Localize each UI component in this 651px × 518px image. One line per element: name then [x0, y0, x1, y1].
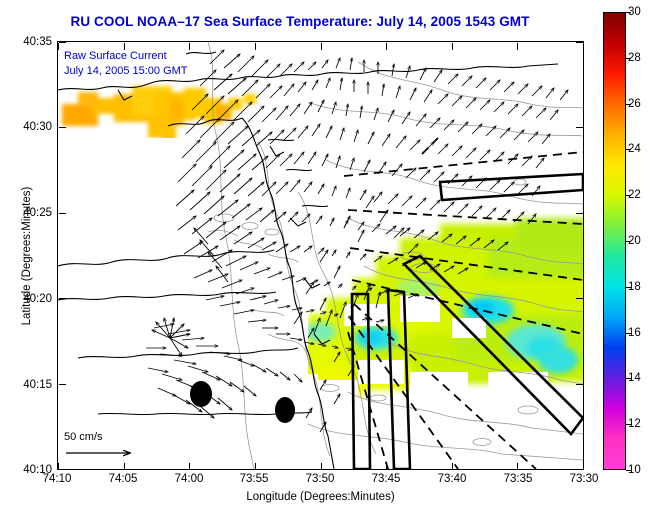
sst-map-plot[interactable]: Raw Surface Current July 14, 2005 15:00 …: [57, 41, 584, 470]
scale-bar-arrow-icon: [64, 443, 150, 463]
x-axis-label: Longitude (Degrees:Minutes): [57, 491, 584, 503]
colorbar-tickmark-4: [626, 195, 631, 196]
y-tickmark-left-1: [59, 127, 66, 128]
scale-bar-label: 50 cm/s: [64, 431, 150, 443]
station-marker-1: [190, 381, 212, 407]
annotation-line-2: July 14, 2005 15:00 GMT: [64, 64, 188, 79]
x-tickmark-top-7: [517, 43, 518, 50]
y-tickmark-right-4: [576, 384, 583, 385]
annotation-line-1: Raw Surface Current: [64, 49, 188, 64]
x-tickmark-bottom-3: [255, 463, 256, 470]
colorbar-tickmark-8: [626, 378, 631, 379]
y-tickmark-right-0: [576, 42, 583, 43]
colorbar-tickmark-9: [626, 424, 631, 425]
x-tickmark-top-3: [255, 43, 256, 50]
map-annotation: Raw Surface Current July 14, 2005 15:00 …: [64, 49, 188, 79]
xtick-5: 73:45: [372, 473, 401, 485]
y-tickmark-right-3: [576, 298, 583, 299]
x-tickmark-bottom-7: [517, 463, 518, 470]
x-tickmark-top-8: [583, 43, 584, 50]
x-tickmark-bottom-6: [452, 463, 453, 470]
colorbar-tickmark-1: [626, 58, 631, 59]
y-tickmark-left-2: [59, 213, 66, 214]
xtick-1: 74:05: [109, 473, 138, 485]
x-tickmark-top-4: [321, 43, 322, 50]
colorbar-tickmark-0: [626, 12, 631, 13]
x-tickmark-top-2: [189, 43, 190, 50]
colorbar-tickmark-5: [626, 241, 631, 242]
colorbar-tickmark-6: [626, 287, 631, 288]
x-tickmark-bottom-5: [386, 463, 387, 470]
colorbar-tickmark-10: [626, 470, 631, 471]
xtick-4: 73:50: [306, 473, 335, 485]
page-title: RU COOL NOAA–17 Sea Surface Temperature:…: [0, 14, 600, 29]
y-tickmark-right-5: [576, 469, 583, 470]
x-tickmark-top-1: [124, 43, 125, 50]
scale-bar: 50 cm/s: [64, 431, 150, 468]
x-tickmark-bottom-1: [124, 463, 125, 470]
ytick-4: 40:15: [8, 379, 52, 391]
y-tickmark-left-3: [59, 298, 66, 299]
x-tickmark-top-0: [58, 43, 59, 50]
map-canvas: [58, 42, 583, 469]
colorbar: [603, 12, 626, 470]
ytick-5: 40:10: [8, 464, 52, 476]
x-tickmark-top-5: [386, 43, 387, 50]
y-tickmark-right-2: [576, 213, 583, 214]
y-axis-label: Latitude (Degrees:Minutes): [21, 136, 33, 376]
x-tickmark-bottom-8: [583, 463, 584, 470]
xtick-7: 73:35: [504, 473, 533, 485]
x-tickmark-bottom-2: [189, 463, 190, 470]
xtick-8: 73:30: [570, 473, 599, 485]
xtick-3: 73:55: [240, 473, 269, 485]
x-tickmark-bottom-4: [321, 463, 322, 470]
ytick-1: 40:30: [8, 121, 52, 133]
colorbar-tickmark-3: [626, 149, 631, 150]
y-tickmark-right-1: [576, 127, 583, 128]
y-tickmark-left-5: [59, 469, 66, 470]
y-tickmark-left-4: [59, 384, 66, 385]
colorbar-tickmark-2: [626, 104, 631, 105]
colorbar-tickmark-7: [626, 333, 631, 334]
ytick-0: 40:35: [8, 36, 52, 48]
y-tickmark-left-0: [59, 42, 66, 43]
xtick-2: 74:00: [175, 473, 204, 485]
x-tickmark-top-6: [452, 43, 453, 50]
station-marker-2: [275, 397, 295, 423]
colorbar-gradient: [604, 13, 625, 469]
xtick-6: 73:40: [438, 473, 467, 485]
